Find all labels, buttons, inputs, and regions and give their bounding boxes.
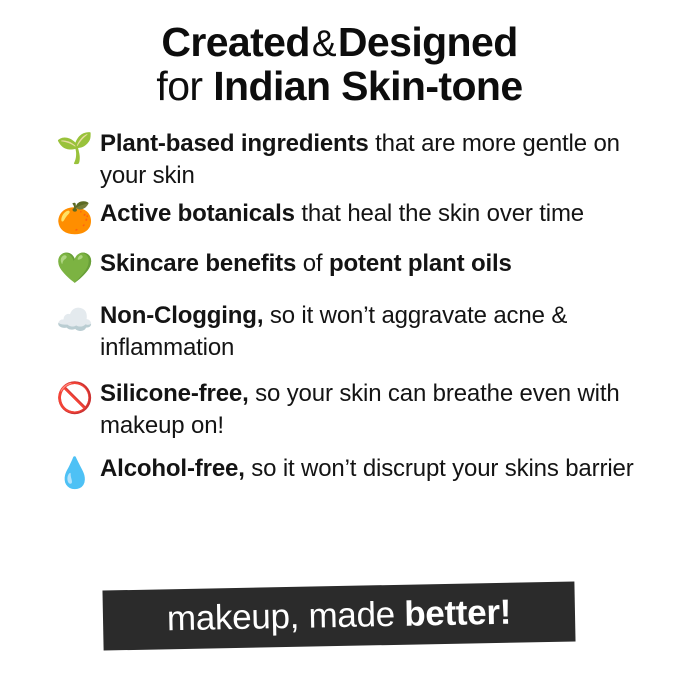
list-item-body: of bbox=[296, 250, 329, 277]
title-line-1: Created&Designed bbox=[0, 22, 679, 64]
list-item-text: Alcohol-free, so it won’t discrupt your … bbox=[100, 453, 635, 485]
page-title: Created&Designed for Indian Skin-tone bbox=[0, 22, 679, 108]
list-item-highlight: Silicone-free, bbox=[100, 380, 249, 407]
benefits-list: 🌱 Plant-based ingredients that are more … bbox=[0, 128, 679, 489]
tagline-banner-area: makeup, made better! bbox=[0, 572, 679, 662]
list-item: 💚 Skincare benefits of potent plant oils bbox=[0, 248, 679, 284]
green-heart-icon: 💚 bbox=[50, 248, 100, 284]
list-item-highlight: Plant-based ingredients bbox=[100, 130, 369, 157]
list-item-body: so it won’t discrupt your skins barrier bbox=[245, 455, 634, 482]
title-ampersand: & bbox=[310, 23, 338, 64]
list-item: 🌱 Plant-based ingredients that are more … bbox=[0, 128, 679, 192]
title-phrase-indian-skin-tone: Indian Skin-tone bbox=[213, 63, 522, 109]
title-line-2: for Indian Skin-tone bbox=[0, 66, 679, 108]
list-item-highlight: Alcohol-free, bbox=[100, 455, 245, 482]
promo-infographic: Created&Designed for Indian Skin-tone 🌱 … bbox=[0, 0, 679, 679]
list-item-body: that heal the skin over time bbox=[295, 200, 584, 227]
list-item-highlight-2: potent plant oils bbox=[329, 250, 512, 277]
list-item-highlight: Skincare benefits bbox=[100, 250, 296, 277]
title-word-created: Created bbox=[161, 19, 309, 65]
list-item-text: Silicone-free, so your skin can breathe … bbox=[100, 378, 635, 442]
tagline-banner: makeup, made better! bbox=[102, 581, 575, 650]
droplet-icon: 💧 bbox=[50, 453, 100, 489]
list-item: 💧 Alcohol-free, so it won’t discrupt you… bbox=[0, 453, 679, 489]
title-word-for: for bbox=[156, 63, 202, 109]
prohibited-icon: 🚫 bbox=[50, 378, 100, 414]
list-item-text: Active botanicals that heal the skin ove… bbox=[100, 198, 635, 230]
list-item-highlight: Active botanicals bbox=[100, 200, 295, 227]
tangerine-icon: 🍊 bbox=[50, 198, 100, 234]
list-item-text: Plant-based ingredients that are more ge… bbox=[100, 128, 635, 192]
title-word-designed: Designed bbox=[338, 19, 518, 65]
tagline-regular: makeup, made bbox=[167, 594, 405, 638]
list-item-text: Skincare benefits of potent plant oils bbox=[100, 248, 635, 280]
seedling-icon: 🌱 bbox=[50, 128, 100, 164]
tagline-bold: better! bbox=[404, 592, 512, 633]
list-item: ☁️ Non-Clogging, so it won’t aggravate a… bbox=[0, 300, 679, 364]
list-item-text: Non-Clogging, so it won’t aggravate acne… bbox=[100, 300, 635, 364]
tagline-text: makeup, made better! bbox=[167, 594, 512, 636]
list-item: 🍊 Active botanicals that heal the skin o… bbox=[0, 198, 679, 234]
list-item: 🚫 Silicone-free, so your skin can breath… bbox=[0, 378, 679, 442]
list-item-highlight: Non-Clogging, bbox=[100, 302, 263, 329]
cloud-icon: ☁️ bbox=[50, 300, 100, 336]
